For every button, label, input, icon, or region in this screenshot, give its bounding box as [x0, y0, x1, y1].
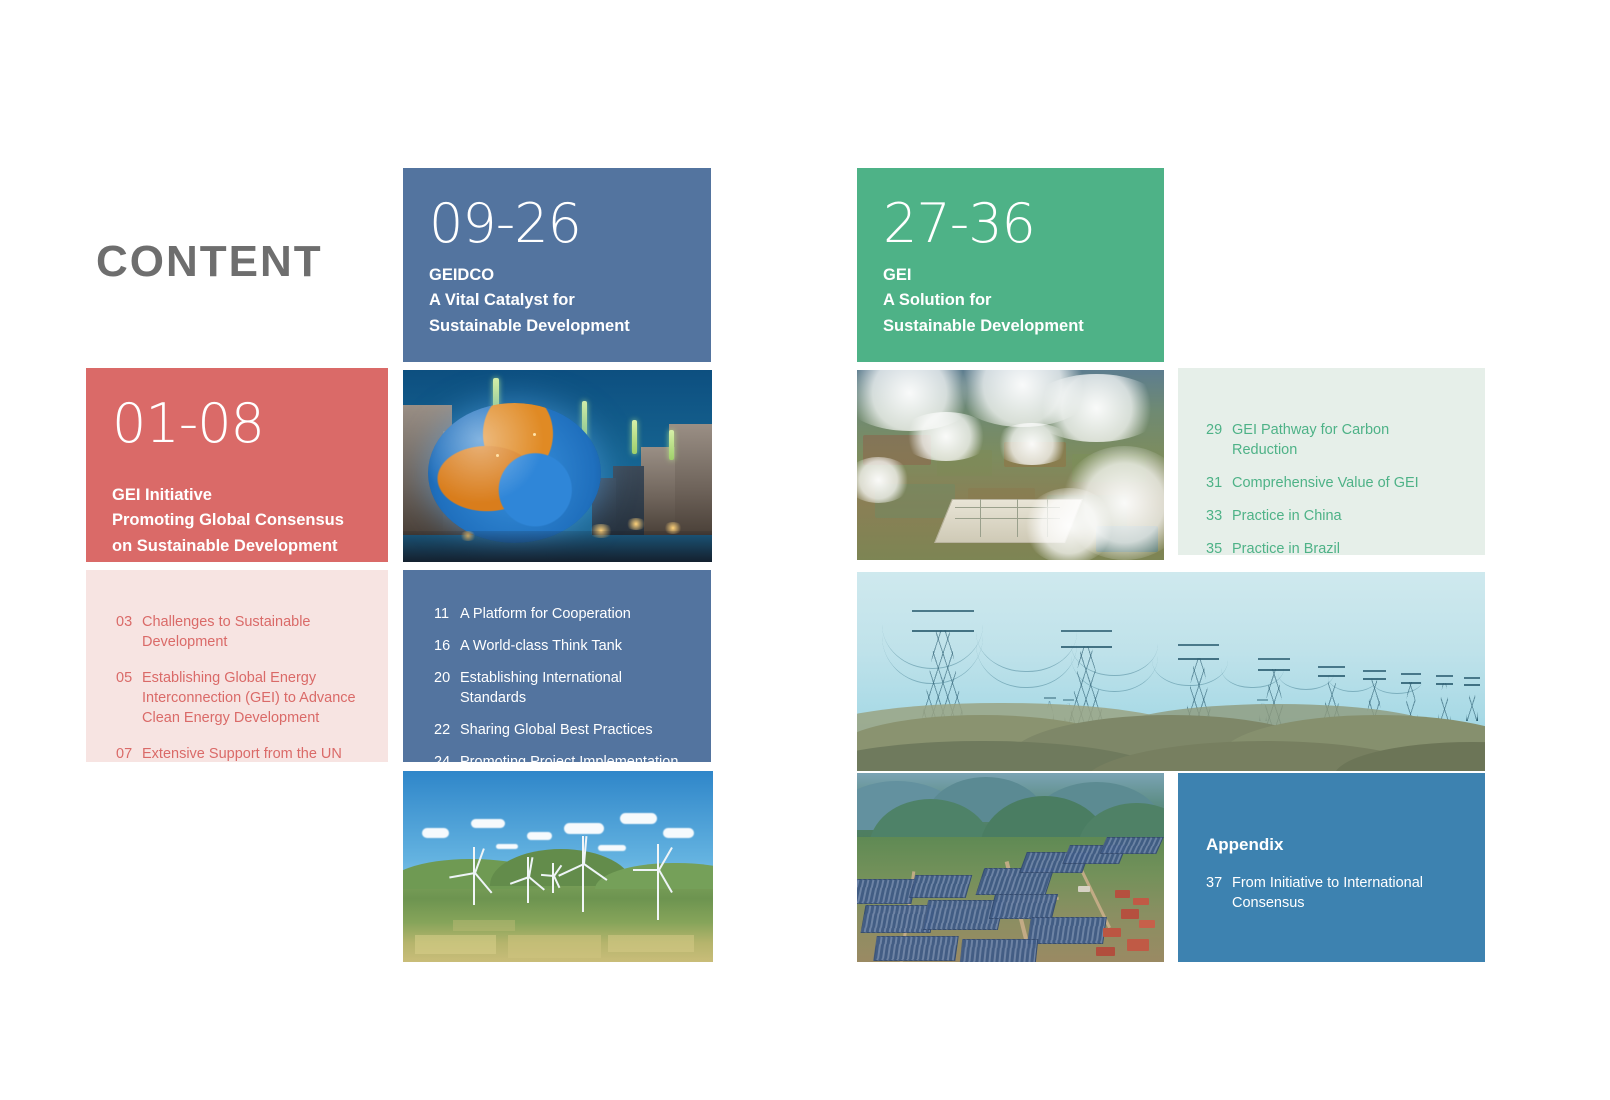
toc-entry-label: Promoting Project Implementation [460, 752, 681, 772]
toc-page-number: 31 [1206, 473, 1232, 493]
toc-entry[interactable]: 33 Practice in China [1206, 506, 1455, 526]
toc-entry-label: A Platform for Cooperation [460, 604, 681, 624]
toc-entry[interactable]: 03 Challenges to Sustainable Development [116, 612, 358, 652]
toc-panel-red: 03 Challenges to Sustainable Development… [86, 570, 388, 762]
photo-globe-square [403, 370, 712, 562]
toc-page-number: 35 [1206, 539, 1232, 559]
photo-transmission-towers [857, 572, 1485, 771]
section-card-blue[interactable]: 09-26 GEIDCO A Vital Catalyst for Sustai… [403, 168, 711, 362]
page-title: CONTENT [96, 240, 323, 284]
toc-entry-label: Extensive Support from the UN [142, 744, 358, 764]
heading-line: GEI Initiative [112, 483, 362, 509]
toc-panel-blue: 11 A Platform for Cooperation 16 A World… [403, 570, 711, 762]
toc-entry[interactable]: 07 Extensive Support from the UN [116, 744, 358, 764]
toc-entry[interactable]: 05 Establishing Global Energy Interconne… [116, 668, 358, 728]
toc-entry-label: Establishing Global Energy Interconnecti… [142, 668, 358, 728]
toc-page-number: 20 [434, 668, 460, 688]
heading-line: Promoting Global Consensus [112, 508, 362, 534]
toc-entry-label: Sharing Global Best Practices [460, 720, 681, 740]
toc-page-number: 03 [116, 612, 142, 632]
heading-line: Sustainable Development [429, 314, 685, 340]
section-heading-blue: GEIDCO A Vital Catalyst for Sustainable … [429, 263, 685, 340]
section-heading-red: GEI Initiative Promoting Global Consensu… [112, 483, 362, 560]
toc-entry-label: Practice in China [1232, 506, 1455, 526]
toc-page-number: 05 [116, 668, 142, 688]
toc-page-number: 33 [1206, 506, 1232, 526]
section-card-green[interactable]: 27-36 GEI A Solution for Sustainable Dev… [857, 168, 1164, 362]
heading-line: A Vital Catalyst for [429, 288, 685, 314]
toc-entry[interactable]: 11 A Platform for Cooperation [434, 604, 681, 624]
toc-page-number: 24 [434, 752, 460, 772]
section-card-red[interactable]: 01-08 GEI Initiative Promoting Global Co… [86, 368, 388, 562]
toc-entry-label: Challenges to Sustainable Development [142, 612, 358, 652]
heading-line: GEI [883, 263, 1138, 289]
appendix-panel: Appendix 37 From Initiative to Internati… [1178, 773, 1485, 962]
section-heading-green: GEI A Solution for Sustainable Developme… [883, 263, 1138, 340]
content-page: CONTENT 01-08 GEI Initiative Promoting G… [0, 0, 1610, 1100]
toc-entry-label: A World-class Think Tank [460, 636, 681, 656]
toc-entry-label: Comprehensive Value of GEI [1232, 473, 1455, 493]
toc-page-number: 11 [434, 604, 460, 624]
section-range-blue: 09-26 [429, 196, 685, 253]
appendix-title: Appendix [1206, 835, 1455, 855]
toc-entry-label: From Initiative to International Consens… [1232, 873, 1455, 913]
section-range-green: 27-36 [883, 196, 1138, 253]
toc-page-number: 07 [116, 744, 142, 764]
toc-page-number: 16 [434, 636, 460, 656]
section-range-red: 01-08 [112, 396, 362, 453]
toc-entry[interactable]: 24 Promoting Project Implementation [434, 752, 681, 772]
toc-entry-label: Establishing International Standards [460, 668, 681, 708]
photo-solar-farm [857, 773, 1164, 962]
toc-page-number: 22 [434, 720, 460, 740]
toc-page-number: 29 [1206, 420, 1232, 440]
heading-line: on Sustainable Development [112, 534, 362, 560]
toc-entry[interactable]: 29 GEI Pathway for Carbon Reduction [1206, 420, 1455, 460]
toc-entry[interactable]: 31 Comprehensive Value of GEI [1206, 473, 1455, 493]
toc-panel-green: 29 GEI Pathway for Carbon Reduction 31 C… [1178, 368, 1485, 555]
toc-page-number: 37 [1206, 873, 1232, 893]
toc-entry-label: Practice in Brazil [1232, 539, 1455, 559]
heading-line: GEIDCO [429, 263, 685, 289]
photo-substation-aerial [857, 370, 1164, 560]
heading-line: A Solution for [883, 288, 1138, 314]
toc-entry[interactable]: 35 Practice in Brazil [1206, 539, 1455, 559]
toc-entry[interactable]: 37 From Initiative to International Cons… [1206, 873, 1455, 913]
heading-line: Sustainable Development [883, 314, 1138, 340]
toc-entry-label: GEI Pathway for Carbon Reduction [1232, 420, 1455, 460]
toc-entry[interactable]: 16 A World-class Think Tank [434, 636, 681, 656]
toc-entry[interactable]: 20 Establishing International Standards [434, 668, 681, 708]
toc-entry[interactable]: 22 Sharing Global Best Practices [434, 720, 681, 740]
photo-wind-farm [403, 771, 713, 962]
